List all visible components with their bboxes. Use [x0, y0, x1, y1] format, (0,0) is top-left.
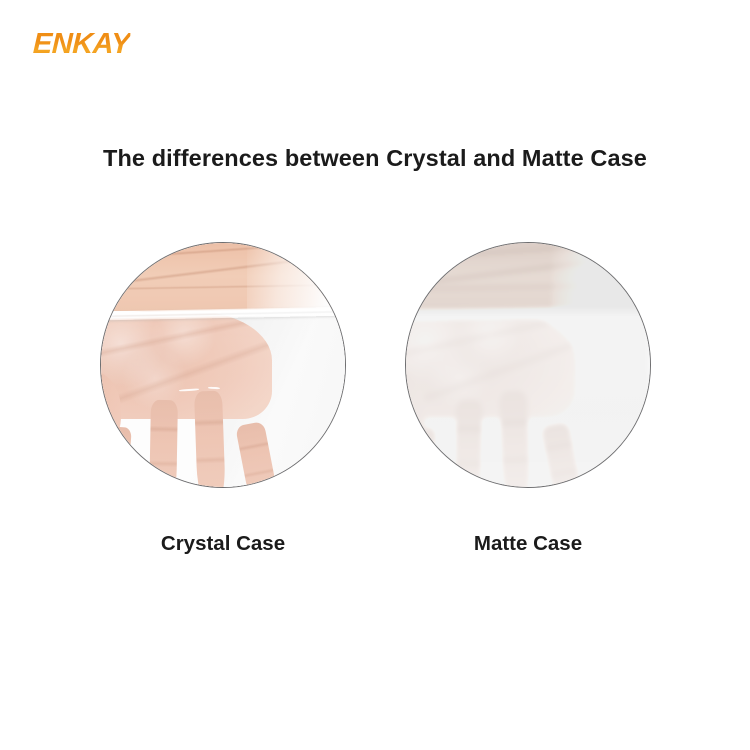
finger — [408, 426, 437, 488]
brand-name: ENKAY — [32, 27, 130, 61]
bare-hand-fade — [247, 242, 346, 316]
finger — [194, 391, 226, 488]
caption-matte-case: Matte Case — [405, 532, 651, 556]
caption-crystal-case: Crystal Case — [100, 532, 346, 556]
fingers — [101, 385, 345, 488]
finger — [149, 400, 178, 488]
finger — [235, 421, 280, 488]
case-comparison: Crystal Case — [0, 242, 750, 492]
fingers — [406, 385, 650, 488]
finger — [499, 391, 531, 488]
crystal-case-photo — [100, 242, 346, 488]
finger — [454, 400, 483, 488]
enkay-logo: ENKAY — [33, 27, 253, 61]
matte-scene — [406, 243, 650, 487]
finger — [540, 421, 585, 488]
bare-hand-fade — [552, 242, 651, 316]
finger — [103, 426, 132, 488]
crystal-scene — [101, 243, 345, 487]
matte-case-photo — [405, 242, 651, 488]
comparison-item-matte: Matte Case — [405, 242, 651, 488]
comparison-item-crystal: Crystal Case — [100, 242, 346, 488]
product-comparison-image: ENKAY The differences between Crystal an… — [0, 0, 750, 750]
page-title: The differences between Crystal and Matt… — [0, 145, 750, 172]
